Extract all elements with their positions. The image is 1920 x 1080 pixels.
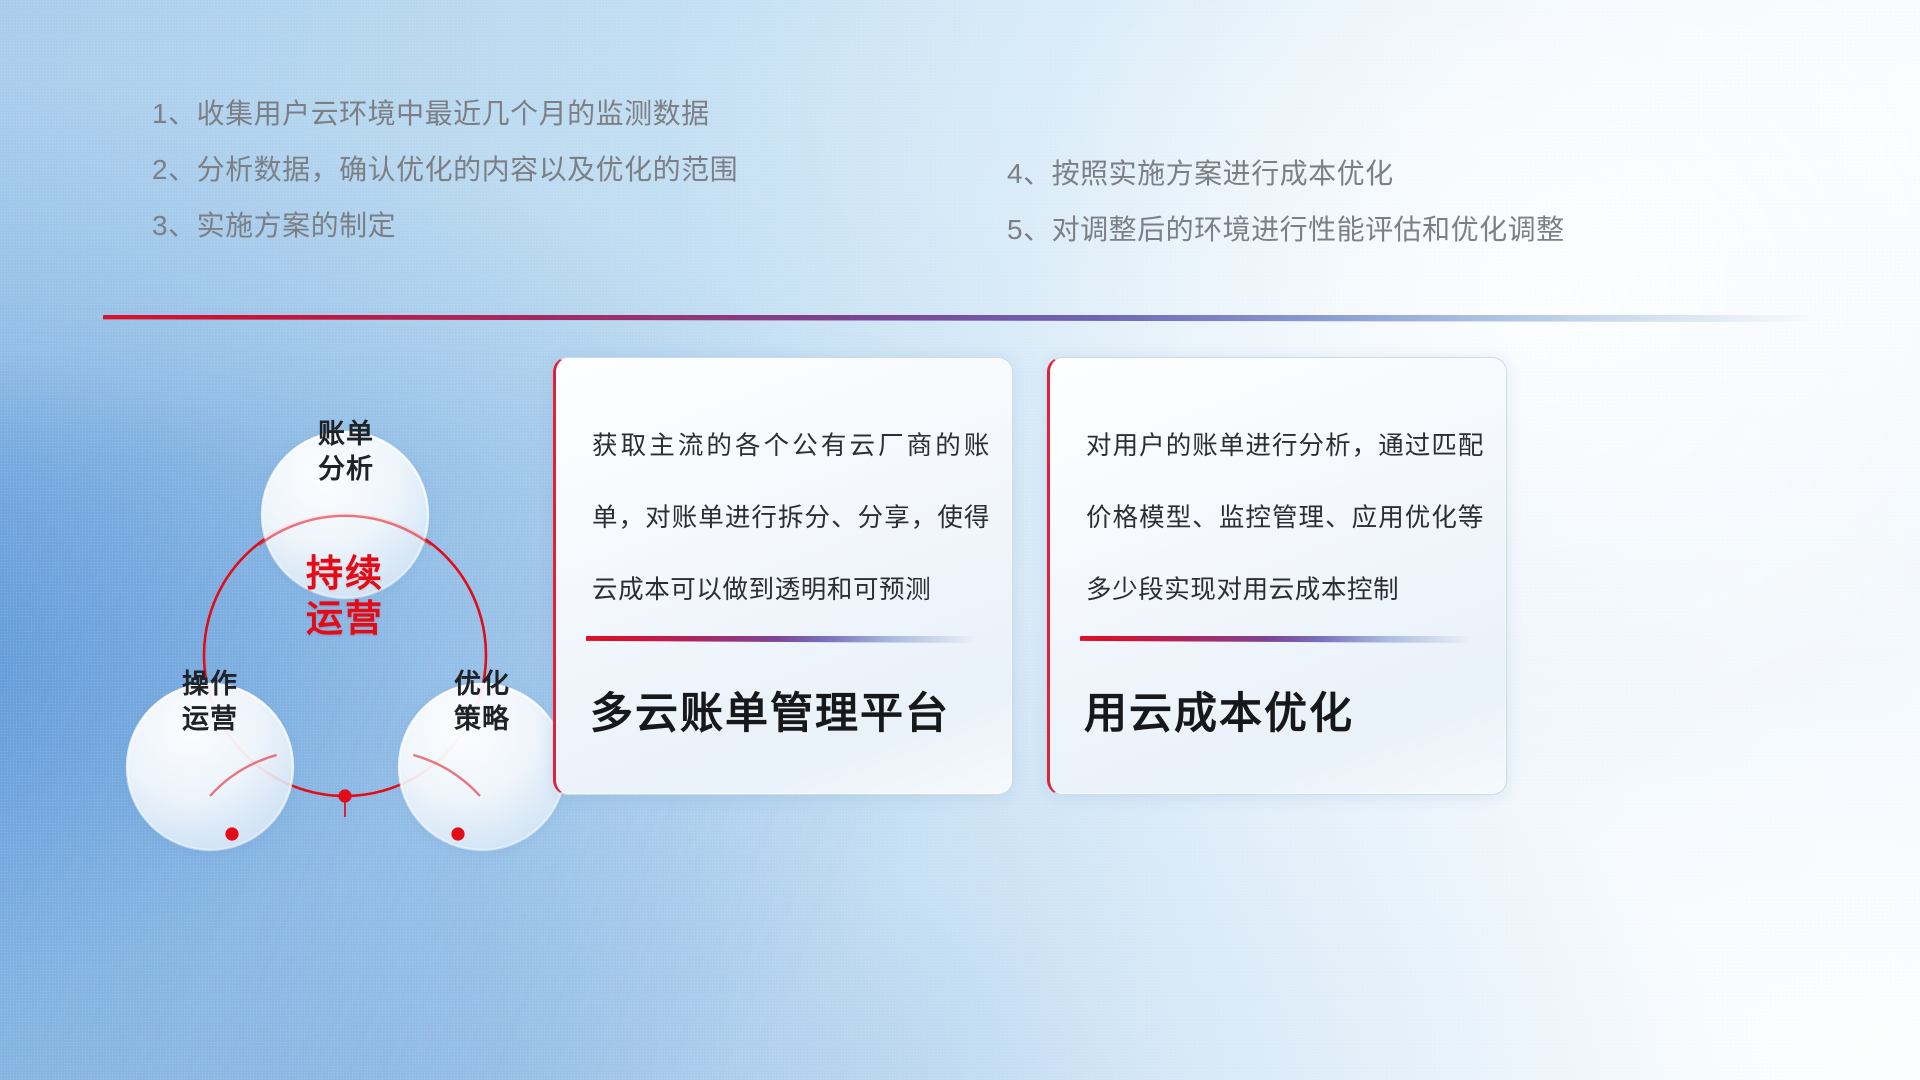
bubble-bottom-right — [399, 684, 565, 850]
venn-label-center: 持续 运营 — [255, 551, 435, 641]
process-step: 5、对调整后的环境进行性能评估和优化调整 — [1007, 216, 1565, 244]
feature-card-cloud-cost-optimization[interactable]: 对用户的账单进行分析，通过匹配价格模型、监控管理、应用优化等多少段实现对用云成本… — [1047, 357, 1507, 795]
node-marker-left — [225, 827, 238, 840]
card-divider — [586, 636, 978, 643]
process-step: 2、分析数据，确认优化的内容以及优化的范围 — [152, 156, 738, 184]
process-step: 4、按照实施方案进行成本优化 — [1007, 160, 1565, 188]
card-body-text: 对用户的账单进行分析，通过匹配价格模型、监控管理、应用优化等多少段实现对用云成本… — [1086, 410, 1484, 626]
node-marker-right — [451, 827, 464, 840]
card-body-text: 获取主流的各个公有云厂商的账单，对账单进行拆分、分享，使得云成本可以做到透明和可… — [592, 410, 990, 626]
section-divider — [103, 315, 1816, 322]
card-title: 用云成本优化 — [1084, 690, 1486, 739]
node-marker-top — [338, 789, 351, 802]
card-divider — [1080, 636, 1472, 643]
feature-card-multi-cloud-billing[interactable]: 获取主流的各个公有云厂商的账单，对账单进行拆分、分享，使得云成本可以做到透明和可… — [553, 357, 1013, 795]
bubble-bottom-left — [127, 684, 293, 850]
process-step: 3、实施方案的制定 — [152, 212, 738, 240]
card-title: 多云账单管理平台 — [590, 690, 992, 739]
process-steps-right: 4、按照实施方案进行成本优化 5、对调整后的环境进行性能评估和优化调整 — [1007, 160, 1565, 244]
process-step: 1、收集用户云环境中最近几个月的监测数据 — [152, 100, 738, 128]
slide-canvas: 1、收集用户云环境中最近几个月的监测数据 2、分析数据，确认优化的内容以及优化的… — [0, 0, 1920, 1080]
process-steps-left: 1、收集用户云环境中最近几个月的监测数据 2、分析数据，确认优化的内容以及优化的… — [152, 100, 738, 240]
venn-diagram: 账单 分析 操作 运营 优化 策略 持续 运营 — [100, 355, 620, 955]
